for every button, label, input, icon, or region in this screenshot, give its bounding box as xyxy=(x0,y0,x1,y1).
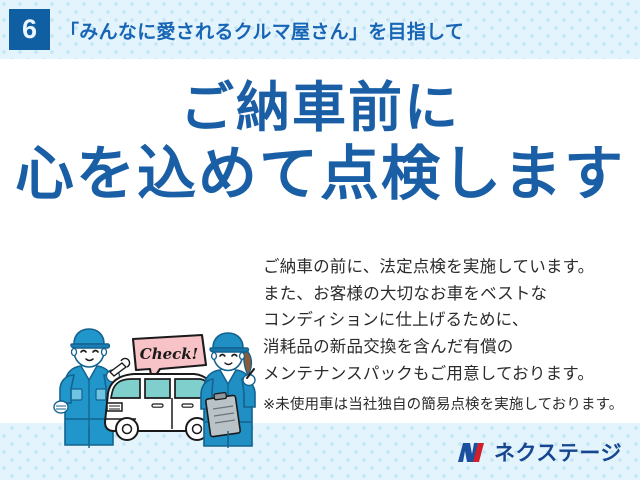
advertisement-page: 6 「みんなに愛されるクルマ屋さん」を目指して ご納車前に 心を込めて点検します… xyxy=(0,0,640,480)
nextage-logo: ネクステージ xyxy=(454,437,622,467)
section-number-badge: 6 xyxy=(9,9,50,50)
hero-line-1: ご納車前に xyxy=(0,81,640,136)
nextage-n-mark xyxy=(454,440,487,465)
copy-line: メンテナンスパックもご用意しております。 xyxy=(263,361,635,388)
header-band: 6 「みんなに愛されるクルマ屋さん」を目指して xyxy=(0,0,640,59)
speech-bubble-label: Check! xyxy=(140,345,199,363)
header-title: 「みんなに愛されるクルマ屋さん」を目指して xyxy=(60,17,464,44)
body-copy-block: ご納車の前に、法定点検を実施しています。 また、お客様の大切なお車をベストな コ… xyxy=(263,254,635,417)
hero-heading: ご納車前に 心を込めて点検します xyxy=(0,81,640,204)
brand-name: ネクステージ xyxy=(494,437,622,467)
copy-line: また、お客様の大切なお車をベストな xyxy=(263,281,635,308)
copy-line: 消耗品の新品交換を含んだ有償の xyxy=(263,334,635,361)
copy-note: ※未使用車は当社独自の簡易点検を実施しております。 xyxy=(263,394,635,417)
content-panel: ご納車前に 心を込めて点検します ご納車の前に、法定点検を実施しています。 また… xyxy=(0,59,640,423)
copy-line: コンディションに仕上げるために、 xyxy=(263,307,635,334)
copy-line: ご納車の前に、法定点検を実施しています。 xyxy=(263,254,635,281)
hero-line-2: 心を込めて点検します xyxy=(0,144,640,204)
footer-band: ネクステージ xyxy=(0,423,640,480)
lower-content: ご納車の前に、法定点検を実施しています。 また、お客様の大切なお車をベストな コ… xyxy=(0,251,640,423)
